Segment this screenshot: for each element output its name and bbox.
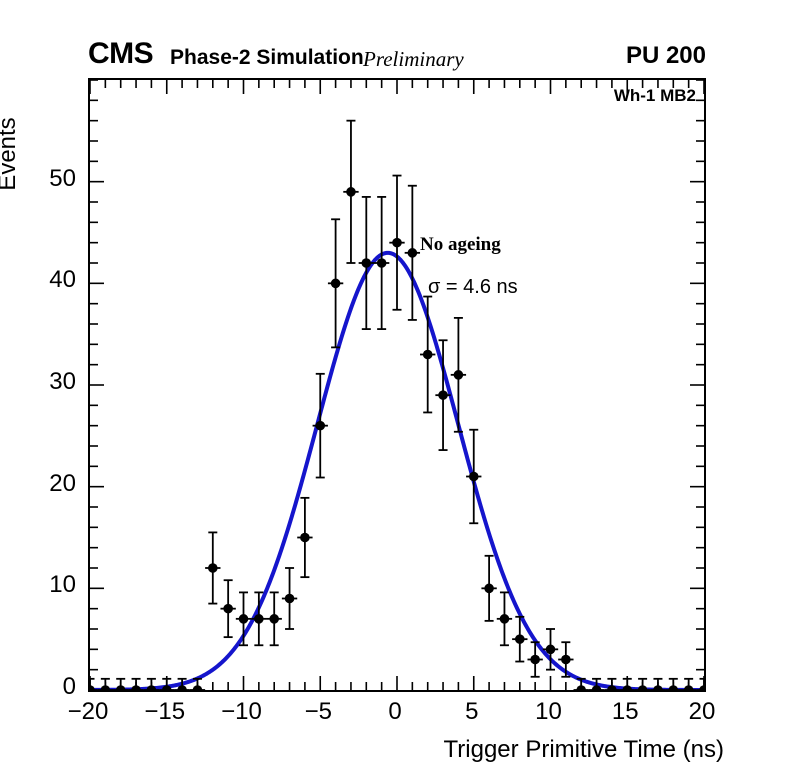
- data-point: [374, 197, 389, 329]
- data-point: [481, 556, 496, 621]
- x-tick-label: −20: [53, 698, 123, 726]
- x-tick-label: −15: [130, 698, 200, 726]
- data-marker: [254, 614, 264, 624]
- y-tick-label: 0: [8, 673, 76, 701]
- data-marker: [223, 604, 233, 614]
- data-point: [389, 176, 404, 310]
- data-marker: [500, 614, 510, 624]
- x-tick-label: 5: [437, 698, 507, 726]
- data-marker: [622, 685, 632, 690]
- data-marker: [669, 685, 679, 690]
- data-marker: [239, 614, 249, 624]
- data-marker: [408, 248, 418, 258]
- annotation-title: No ageing: [420, 234, 501, 256]
- cms-logo: CMS: [88, 38, 153, 70]
- data-marker: [331, 279, 341, 289]
- data-point-group: [90, 121, 704, 690]
- data-marker: [300, 533, 310, 543]
- data-point: [267, 592, 282, 645]
- data-marker: [193, 685, 203, 690]
- data-point: [420, 297, 435, 413]
- y-tick-label: 40: [8, 266, 76, 294]
- data-marker: [484, 584, 494, 594]
- x-tick-label: 0: [360, 698, 430, 726]
- data-marker: [638, 685, 648, 690]
- data-marker: [147, 685, 157, 690]
- plot-area: [90, 80, 704, 690]
- region-label: Wh-1 MB2: [614, 86, 696, 106]
- data-marker: [269, 614, 279, 624]
- pileup-label: PU 200: [626, 41, 706, 71]
- data-marker: [377, 258, 387, 268]
- data-marker: [116, 685, 126, 690]
- y-axis-title: Events: [0, 84, 22, 224]
- data-marker: [530, 655, 540, 665]
- data-marker: [208, 563, 218, 573]
- data-point: [497, 592, 512, 645]
- data-marker: [561, 655, 571, 665]
- data-point: [236, 592, 251, 645]
- data-marker: [346, 187, 356, 197]
- x-tick-label: −5: [283, 698, 353, 726]
- data-marker: [101, 685, 111, 690]
- y-tick-label: 20: [8, 470, 76, 498]
- cms-subtitle: Phase-2 Simulation: [170, 44, 364, 72]
- data-marker: [392, 238, 402, 248]
- data-point: [282, 568, 297, 629]
- x-tick-label: −10: [207, 698, 277, 726]
- data-point: [435, 340, 450, 450]
- y-tick-label: 30: [8, 368, 76, 396]
- x-tick-label: 10: [514, 698, 584, 726]
- y-tick-label: 10: [8, 571, 76, 599]
- data-marker: [653, 685, 663, 690]
- data-point: [359, 197, 374, 329]
- x-axis-title: Trigger Primitive Time (ns): [0, 736, 796, 764]
- annotation-sigma: σ = 4.6 ns: [428, 276, 518, 299]
- data-point: [466, 430, 481, 524]
- data-marker: [576, 685, 586, 690]
- data-marker: [90, 685, 95, 690]
- data-marker: [438, 390, 448, 400]
- data-point: [297, 498, 312, 577]
- data-point: [405, 186, 420, 320]
- data-marker: [362, 258, 372, 268]
- plot-frame: Wh-1 MB2 No ageing σ = 4.6 ns: [88, 78, 706, 692]
- data-marker: [285, 594, 295, 604]
- data-marker: [469, 472, 479, 482]
- data-point: [451, 318, 466, 432]
- y-tick-label: 50: [8, 165, 76, 193]
- cms-preliminary-tag: Preliminary: [363, 45, 464, 73]
- x-tick-label: 20: [667, 698, 737, 726]
- gaussian-fit-curve: [90, 253, 704, 690]
- data-point: [343, 121, 358, 263]
- x-tick-label: 15: [590, 698, 660, 726]
- data-point: [558, 642, 573, 677]
- cms-header: CMS Phase-2 Simulation Preliminary PU 20…: [88, 40, 706, 72]
- plot-svg: [90, 80, 704, 690]
- data-marker: [684, 685, 694, 690]
- data-marker: [515, 634, 525, 644]
- data-point: [328, 219, 343, 347]
- data-point: [205, 532, 220, 603]
- data-marker: [315, 421, 325, 431]
- data-marker: [699, 685, 704, 690]
- plot-canvas: CMS Phase-2 Simulation Preliminary PU 20…: [0, 0, 796, 772]
- data-marker: [423, 350, 433, 360]
- data-marker: [454, 370, 464, 380]
- data-point: [220, 580, 235, 637]
- data-marker: [131, 685, 141, 690]
- data-marker: [546, 645, 556, 655]
